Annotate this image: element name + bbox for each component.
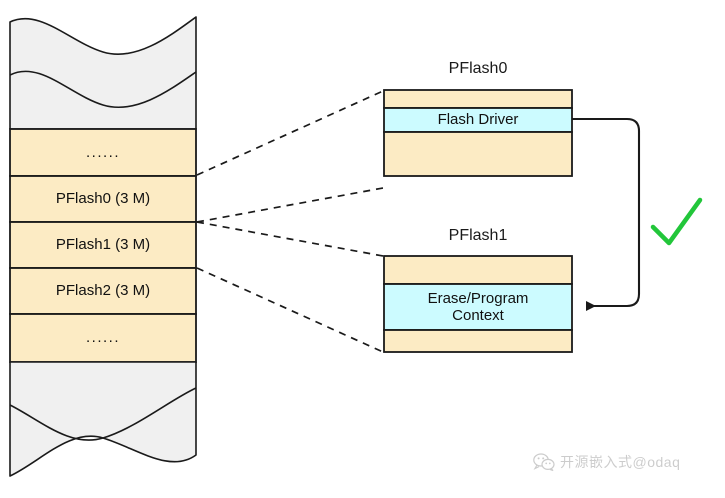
memory-segment-label-pflash0: PFlash0 (3 M)	[10, 176, 196, 222]
connector-pflash0-top	[197, 91, 383, 175]
connector-pflash1-bottom	[197, 268, 383, 352]
memory-segment-label-ellipsis-top: ......	[10, 129, 196, 176]
memory-segment-label-pflash1: PFlash1 (3 M)	[10, 222, 196, 268]
connector-pflash0-bottom	[197, 188, 383, 222]
detail-box-pflash0-band-top	[384, 90, 572, 108]
watermark-text: 开源嵌入式@odaq	[560, 452, 680, 472]
memory-segment-label-pflash2: PFlash2 (3 M)	[10, 268, 196, 314]
connector-pflash1-top	[197, 222, 383, 256]
memory-segment-label-ellipsis-bottom: ......	[10, 314, 196, 362]
diagram-canvas: ...... PFlash0 (3 M) PFlash1 (3 M) PFlas…	[0, 0, 725, 498]
valid-check-mark-icon	[653, 200, 700, 243]
detail-box-pflash1-band-bottom	[384, 330, 572, 352]
watermark: 开源嵌入式@odaq	[533, 452, 680, 472]
flow-arrow-driver-to-context	[572, 119, 639, 306]
detail-box-pflash0-band-bottom	[384, 132, 572, 176]
detail-band-label-erase-program-context: Erase/Program Context	[384, 284, 572, 330]
wechat-logo-icon	[533, 452, 555, 472]
detail-box-pflash1-band-top	[384, 256, 572, 284]
memory-column-bottom-torn-section	[10, 362, 196, 476]
detail-band-label-flash-driver: Flash Driver	[384, 108, 572, 132]
